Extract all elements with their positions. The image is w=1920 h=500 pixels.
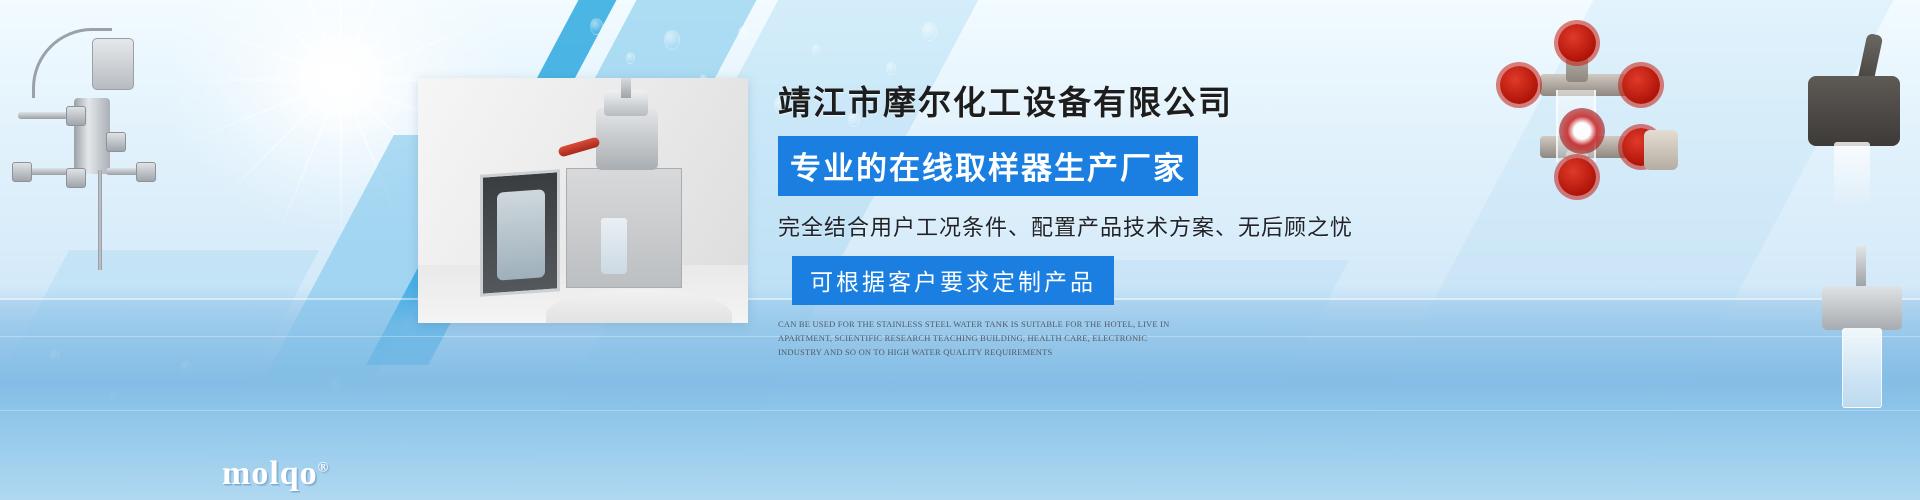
custom-order-badge: 可根据客户要求定制产品 [792,256,1114,305]
watermark-logo: molqo® [222,455,329,493]
english-caption: CAN BE USED FOR THE STAINLESS STEEL WATE… [778,317,1178,359]
logo-text: molqo [222,455,318,492]
registered-mark-icon: ® [318,461,329,476]
banner-text-block: 靖江市摩尔化工设备有限公司 专业的在线取样器生产厂家 完全结合用户工况条件、配置… [778,76,1398,359]
company-name: 靖江市摩尔化工设备有限公司 [778,76,1398,124]
center-product-image [418,78,748,323]
promo-banner: 靖江市摩尔化工设备有限公司 专业的在线取样器生产厂家 完全结合用户工况条件、配置… [0,0,1920,500]
headline-badge: 专业的在线取样器生产厂家 [778,136,1198,196]
horizon-line [0,410,1920,411]
right-lower-product-image [1798,240,1920,440]
left-product-image [10,20,170,270]
right-upper-product-image [1790,30,1920,220]
subline-text: 完全结合用户工况条件、配置产品技术方案、无后顾之忧 [778,210,1398,242]
right-top-product-image [1496,30,1696,180]
